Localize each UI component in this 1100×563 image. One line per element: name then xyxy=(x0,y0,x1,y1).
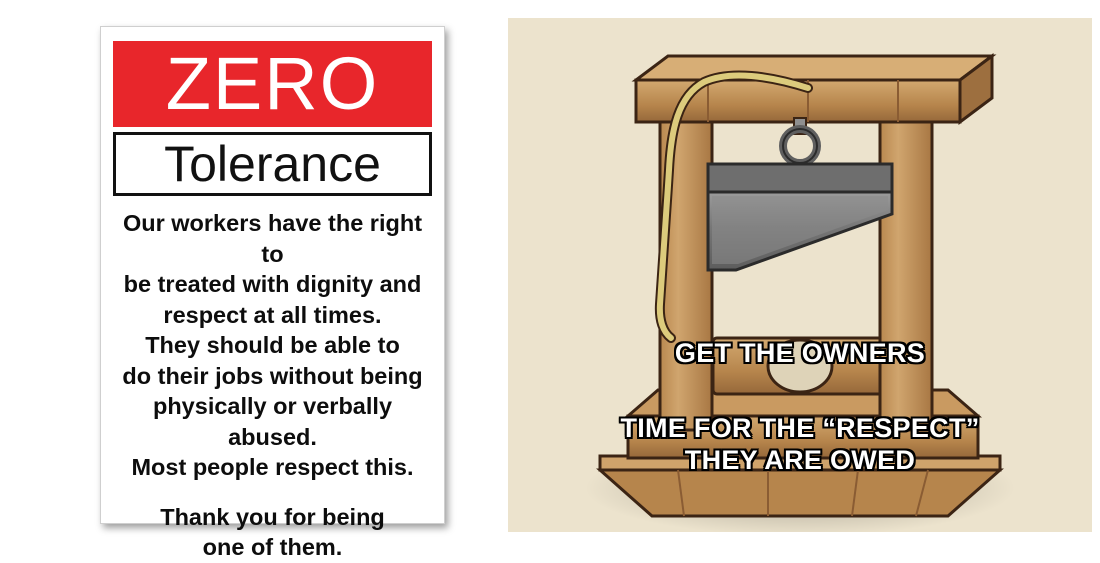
poster-body-spacer xyxy=(113,483,432,502)
poster-red-banner: ZERO xyxy=(113,41,432,127)
caption-bottom-line-2: THEY ARE OWED xyxy=(508,445,1092,477)
poster-tolerance-box: Tolerance xyxy=(113,132,432,196)
poster-body-line-2: be treated with dignity and xyxy=(113,269,432,300)
poster-body-line-7: Most people respect this. xyxy=(113,452,432,483)
meme-canvas: ZERO Tolerance Our workers have the righ… xyxy=(0,0,1100,550)
poster-body-line-1: Our workers have the right to xyxy=(113,208,432,269)
caption-top: GET THE OWNERS xyxy=(508,338,1092,370)
caption-top-text: GET THE OWNERS xyxy=(675,338,925,368)
poster-closing-line-1: Thank you for being xyxy=(113,502,432,533)
caption-bottom-line-1: TIME FOR THE “RESPECT” xyxy=(508,413,1092,445)
right-panel: GET THE OWNERS TIME FOR THE “RESPECT” TH… xyxy=(500,0,1100,550)
poster-body-line-4: They should be able to xyxy=(113,330,432,361)
poster-body-text: Our workers have the right to be treated… xyxy=(113,208,432,563)
blade-mouton xyxy=(708,164,892,192)
poster-body-line-3: respect at all times. xyxy=(113,300,432,331)
caption-bottom: TIME FOR THE “RESPECT” THEY ARE OWED xyxy=(508,413,1092,477)
right-upright-post xyxy=(880,90,932,430)
zero-tolerance-poster: ZERO Tolerance Our workers have the righ… xyxy=(100,26,445,524)
poster-headline-tolerance: Tolerance xyxy=(164,139,381,189)
guillotine-image: GET THE OWNERS TIME FOR THE “RESPECT” TH… xyxy=(508,18,1092,532)
poster-body-line-6: physically or verbally abused. xyxy=(113,391,432,452)
poster-body-line-5: do their jobs without being xyxy=(113,361,432,392)
guillotine-blade xyxy=(708,164,892,270)
poster-closing-line-2: one of them. xyxy=(113,532,432,563)
left-panel: ZERO Tolerance Our workers have the righ… xyxy=(0,0,500,550)
poster-headline-zero: ZERO xyxy=(166,47,380,121)
blade-hook xyxy=(783,118,817,163)
